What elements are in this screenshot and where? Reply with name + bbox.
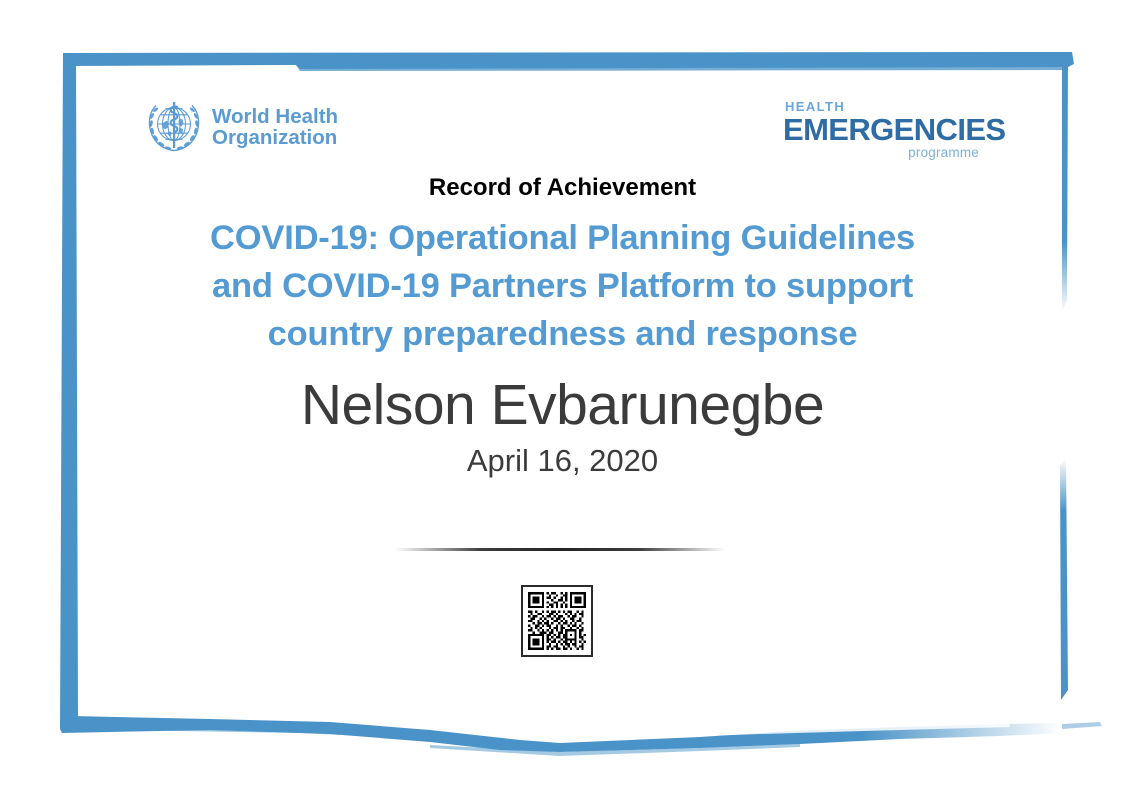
course-title: COVID-19: Operational Planning Guideline… <box>110 214 1015 358</box>
divider-rule <box>395 548 725 551</box>
record-of-achievement-label: Record of Achievement <box>0 174 1125 202</box>
he-emergencies-label: EMERGENCIES <box>783 114 983 145</box>
who-wordmark: World Health Organization <box>212 106 338 149</box>
recipient-name: Nelson Evbarunegbe <box>0 372 1125 438</box>
course-title-line-2: and COVID-19 Partners Platform to suppor… <box>110 262 1015 310</box>
qr-code[interactable] <box>521 585 593 657</box>
who-emblem-icon <box>143 98 205 156</box>
who-wordmark-line2: Organization <box>212 127 338 149</box>
who-wordmark-line1: World Health <box>212 106 338 128</box>
course-title-line-3: country preparedness and response <box>110 310 1015 358</box>
health-emergencies-logo: HEALTH EMERGENCIES programme <box>783 100 983 160</box>
certificate-page: World Health Organization HEALTH EMERGEN… <box>0 0 1125 804</box>
he-programme-label: programme <box>783 146 979 160</box>
course-title-line-1: COVID-19: Operational Planning Guideline… <box>110 214 1015 262</box>
who-logo: World Health Organization <box>143 98 338 156</box>
issue-date: April 16, 2020 <box>0 443 1125 479</box>
qr-code-image <box>528 592 586 650</box>
